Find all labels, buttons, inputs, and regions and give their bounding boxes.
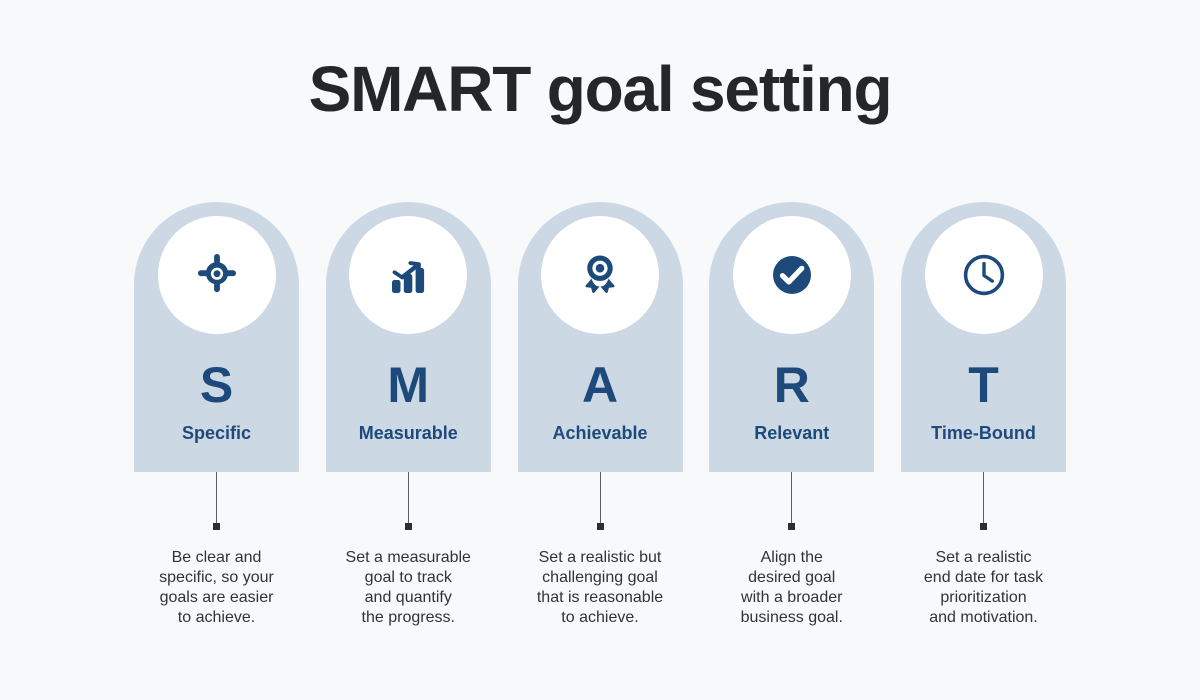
connector-dot <box>405 523 412 530</box>
pillar-caption: Set a measurable goal to track and quant… <box>313 548 503 628</box>
pillar-item[interactable]: R Relevant Align the desired goal with a… <box>709 202 874 628</box>
connector-line <box>600 472 601 524</box>
connector-dot <box>597 523 604 530</box>
connector-dot <box>788 523 795 530</box>
page-title: SMART goal setting <box>0 54 1200 124</box>
icon-circle <box>349 216 467 334</box>
pillar-card[interactable]: S Specific <box>134 202 299 472</box>
pillar-item[interactable]: S Specific Be clear and specific, so you… <box>134 202 299 628</box>
award-ribbon-icon <box>576 251 624 299</box>
clock-icon <box>960 251 1008 299</box>
pillar-caption: Set a realistic end date for task priori… <box>889 548 1079 628</box>
pillar-caption: Set a realistic but challenging goal tha… <box>505 548 695 628</box>
pillar-card[interactable]: R Relevant <box>709 202 874 472</box>
pillar-letter: A <box>582 360 618 410</box>
icon-circle <box>158 216 276 334</box>
pillar-letter: S <box>200 360 233 410</box>
pillar-card[interactable]: T Time-Bound <box>901 202 1066 472</box>
target-crosshair-icon <box>193 251 241 299</box>
pillar-card[interactable]: M Measurable <box>326 202 491 472</box>
pillar-item[interactable]: M Measurable Set a measurable goal to tr… <box>326 202 491 628</box>
infographic-page: SMART goal setting S Specific <box>0 0 1200 700</box>
pillar-label: Specific <box>182 424 251 442</box>
bar-chart-growth-icon <box>384 251 432 299</box>
pillar-caption: Align the desired goal with a broader bu… <box>697 548 887 628</box>
connector-dot <box>213 523 220 530</box>
connector-dot <box>980 523 987 530</box>
pillar-letter: T <box>968 360 999 410</box>
icon-circle <box>925 216 1043 334</box>
pillar-label: Achievable <box>552 424 647 442</box>
connector-line <box>216 472 217 524</box>
connector-line <box>791 472 792 524</box>
pillar-letter: M <box>387 360 429 410</box>
pillar-label: Time-Bound <box>931 424 1036 442</box>
pillar-caption: Be clear and specific, so your goals are… <box>122 548 312 628</box>
pillar-letter: R <box>774 360 810 410</box>
pillar-item[interactable]: T Time-Bound Set a realistic end date fo… <box>901 202 1066 628</box>
icon-circle <box>733 216 851 334</box>
check-circle-icon <box>768 251 816 299</box>
pillar-label: Measurable <box>359 424 458 442</box>
icon-circle <box>541 216 659 334</box>
pillar-label: Relevant <box>754 424 829 442</box>
connector-line <box>983 472 984 524</box>
pillar-list: S Specific Be clear and specific, so you… <box>134 202 1066 628</box>
pillar-card[interactable]: A Achievable <box>518 202 683 472</box>
connector-line <box>408 472 409 524</box>
pillar-item[interactable]: A Achievable Set a realistic but challen… <box>518 202 683 628</box>
